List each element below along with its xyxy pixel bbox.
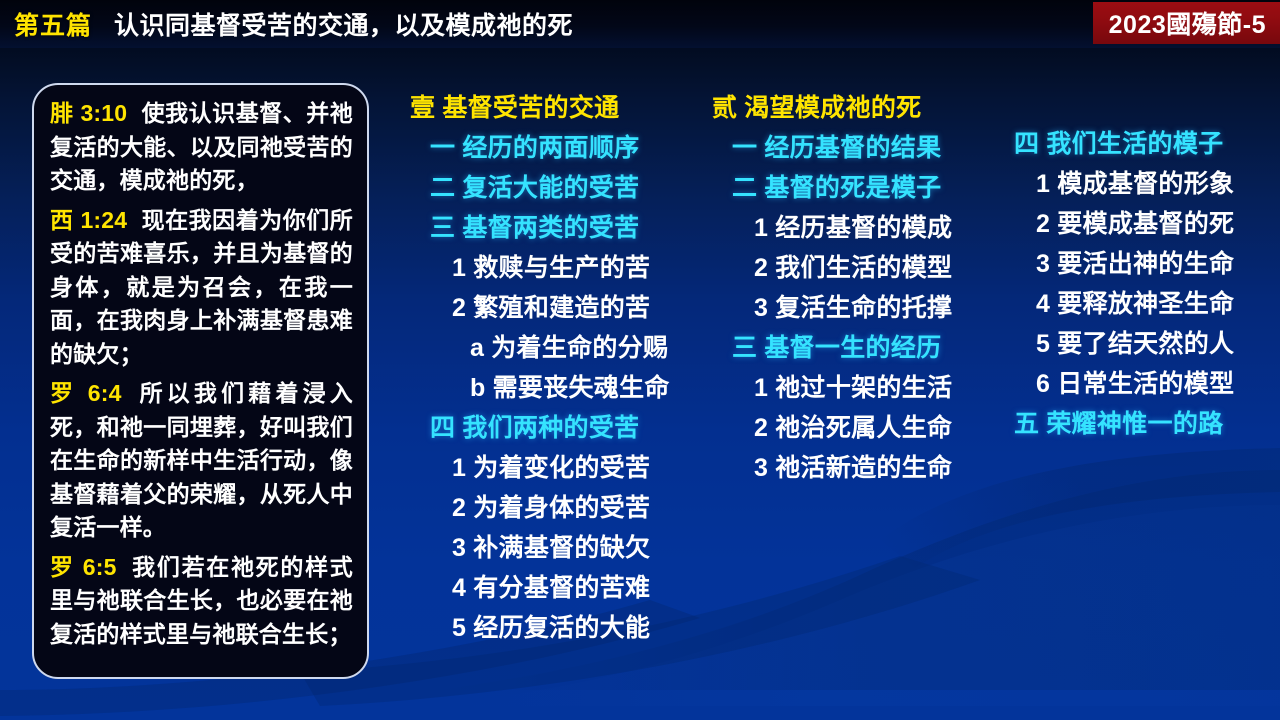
outline-label: 经历基督的结果 <box>764 134 941 162</box>
verse-list: 腓 3:10使我认识基督、并祂复活的大能、以及同祂受苦的交通，模成祂的死，西 1… <box>50 97 353 651</box>
outline-label: 为着变化的受苦 <box>473 454 650 482</box>
outline-label: 要释放神圣生命 <box>1057 290 1234 318</box>
outline-marker: 4 <box>452 574 466 602</box>
outline-marker: 3 <box>754 454 768 482</box>
outline-label: 祂治死属人生命 <box>775 414 952 442</box>
outline-label: 基督一生的经历 <box>764 334 941 362</box>
outline-item-level3: 3复活生命的托撑 <box>706 288 986 328</box>
outline-item-level2: 三基督两类的受苦 <box>404 208 704 248</box>
outline-item-level3: 3要活出神的生命 <box>988 244 1280 284</box>
outline-item-level2: 四我们两种的受苦 <box>404 408 704 448</box>
outline-label: 要了结天然的人 <box>1057 330 1234 358</box>
outline-marker: 6 <box>1036 370 1050 398</box>
outline-label: 我们两种的受苦 <box>462 414 639 442</box>
scripture-panel: 腓 3:10使我认识基督、并祂复活的大能、以及同祂受苦的交通，模成祂的死，西 1… <box>32 83 369 679</box>
outline-marker: 一 <box>732 134 757 162</box>
outline-item-level3: 3补满基督的缺欠 <box>404 528 704 568</box>
outline-label: 荣耀神惟一的路 <box>1046 410 1223 438</box>
outline-item-level2: 四我们生活的模子 <box>988 124 1280 164</box>
outline-marker: 1 <box>1036 170 1050 198</box>
outline-column-2: 贰渴望模成祂的死一经历基督的结果二基督的死是模子1经历基督的模成2我们生活的模型… <box>706 88 986 488</box>
outline-item-level2: 二基督的死是模子 <box>706 168 986 208</box>
outline-marker: 2 <box>452 494 466 522</box>
outline-item-level3: 1为着变化的受苦 <box>404 448 704 488</box>
outline-label: 日常生活的模型 <box>1057 370 1234 398</box>
outline-marker: 1 <box>754 374 768 402</box>
outline-label: 为着身体的受苦 <box>473 494 650 522</box>
outline-item-level2: 二复活大能的受苦 <box>404 168 704 208</box>
outline-marker: 2 <box>452 294 466 322</box>
outline-label: 补满基督的缺欠 <box>473 534 650 562</box>
lesson-number: 第五篇 <box>14 6 92 42</box>
outline-marker: 1 <box>452 454 466 482</box>
outline-item-level1: 贰渴望模成祂的死 <box>706 88 986 128</box>
outline-label: 基督两类的受苦 <box>462 214 639 242</box>
outline-marker: 一 <box>430 134 455 162</box>
outline-label: 要活出神的生命 <box>1057 250 1234 278</box>
page-title: 认识同基督受苦的交通，以及模成祂的死 <box>114 6 573 42</box>
verse-reference: 腓 3:10 <box>50 100 127 126</box>
outline-label: 经历的两面顺序 <box>462 134 639 162</box>
outline-label: 我们生活的模型 <box>775 254 952 282</box>
outline-marker: 3 <box>754 294 768 322</box>
outline-label: 模成基督的形象 <box>1057 170 1234 198</box>
outline-column-1: 壹基督受苦的交通一经历的两面顺序二复活大能的受苦三基督两类的受苦1救赎与生产的苦… <box>404 88 704 648</box>
outline-label: 为着生命的分赐 <box>491 334 668 362</box>
outline-label: 要模成基督的死 <box>1057 210 1234 238</box>
outline-label: 繁殖和建造的苦 <box>473 294 650 322</box>
outline-label: 祂活新造的生命 <box>775 454 952 482</box>
outline-item-level4: a为着生命的分赐 <box>404 328 704 368</box>
outline-marker: 四 <box>430 414 455 442</box>
verse-paragraph: 罗 6:4所以我们藉着浸入死，和祂一同埋葬，好叫我们在生命的新样中生活行动，像基… <box>50 377 353 545</box>
outline-marker: 2 <box>1036 210 1050 238</box>
outline-label: 祂过十架的生活 <box>775 374 952 402</box>
verse-reference: 西 1:24 <box>50 207 127 233</box>
outline-marker: 贰 <box>712 94 737 122</box>
outline-label: 救赎与生产的苦 <box>473 254 650 282</box>
outline-label: 有分基督的苦难 <box>473 574 650 602</box>
outline-marker: 二 <box>430 174 455 202</box>
outline-label: 经历复活的大能 <box>473 614 650 642</box>
outline-item-level3: 3祂活新造的生命 <box>706 448 986 488</box>
verse-paragraph: 西 1:24现在我因着为你们所受的苦难喜乐，并且为基督的身体，就是为召会，在我一… <box>50 204 353 372</box>
outline-marker: 5 <box>452 614 466 642</box>
outline-item-level3: 2要模成基督的死 <box>988 204 1280 244</box>
outline-item-level3: 2繁殖和建造的苦 <box>404 288 704 328</box>
outline-item-level3: 1经历基督的模成 <box>706 208 986 248</box>
outline-item-level2: 一经历基督的结果 <box>706 128 986 168</box>
outline-item-level3: 1救赎与生产的苦 <box>404 248 704 288</box>
outline-marker: 3 <box>1036 250 1050 278</box>
outline-label: 渴望模成祂的死 <box>744 94 921 122</box>
outline-marker: 1 <box>452 254 466 282</box>
outline-label: 复活生命的托撑 <box>775 294 952 322</box>
outline-marker: 五 <box>1014 410 1039 438</box>
outline-label: 基督的死是模子 <box>764 174 941 202</box>
verse-paragraph: 腓 3:10使我认识基督、并祂复活的大能、以及同祂受苦的交通，模成祂的死， <box>50 97 353 198</box>
outline-item-level3: 4要释放神圣生命 <box>988 284 1280 324</box>
slide-root: 第五篇 认识同基督受苦的交通，以及模成祂的死 2023國殤節-5 腓 3:10使… <box>0 0 1280 720</box>
outline-label: 经历基督的模成 <box>775 214 952 242</box>
outline-item-level1: 壹基督受苦的交通 <box>404 88 704 128</box>
outline-marker: 1 <box>754 214 768 242</box>
outline-marker: 三 <box>430 214 455 242</box>
outline-label: 复活大能的受苦 <box>462 174 639 202</box>
outline-marker: a <box>470 334 484 362</box>
outline-item-level4: b需要丧失魂生命 <box>404 368 704 408</box>
outline-marker: b <box>470 374 486 402</box>
outline-item-level3: 5经历复活的大能 <box>404 608 704 648</box>
outline-column-3: 四我们生活的模子1模成基督的形象2要模成基督的死3要活出神的生命4要释放神圣生命… <box>988 124 1280 444</box>
outline-marker: 2 <box>754 254 768 282</box>
outline-item-level3: 4有分基督的苦难 <box>404 568 704 608</box>
outline-marker: 3 <box>452 534 466 562</box>
outline-label: 基督受苦的交通 <box>442 94 619 122</box>
outline-marker: 壹 <box>410 94 435 122</box>
outline-item-level2: 三基督一生的经历 <box>706 328 986 368</box>
outline-item-level3: 1祂过十架的生活 <box>706 368 986 408</box>
outline-item-level3: 2祂治死属人生命 <box>706 408 986 448</box>
outline-marker: 四 <box>1014 130 1039 158</box>
outline-marker: 二 <box>732 174 757 202</box>
outline-marker: 4 <box>1036 290 1050 318</box>
outline-item-level2: 一经历的两面顺序 <box>404 128 704 168</box>
verse-reference: 罗 6:4 <box>50 380 122 406</box>
outline-columns: 壹基督受苦的交通一经历的两面顺序二复活大能的受苦三基督两类的受苦1救赎与生产的苦… <box>404 88 1280 688</box>
outline-marker: 5 <box>1036 330 1050 358</box>
outline-marker: 2 <box>754 414 768 442</box>
outline-label: 需要丧失魂生命 <box>493 374 670 402</box>
status-badge: 2023國殤節-5 <box>1093 2 1280 44</box>
outline-label: 我们生活的模子 <box>1046 130 1223 158</box>
header-bar: 第五篇 认识同基督受苦的交通，以及模成祂的死 2023國殤節-5 <box>0 0 1280 48</box>
outline-item-level3: 6日常生活的模型 <box>988 364 1280 404</box>
outline-item-level3: 2为着身体的受苦 <box>404 488 704 528</box>
outline-item-level3: 1模成基督的形象 <box>988 164 1280 204</box>
verse-reference: 罗 6:5 <box>50 554 117 580</box>
outline-marker: 三 <box>732 334 757 362</box>
outline-item-level3: 2我们生活的模型 <box>706 248 986 288</box>
outline-item-level3: 5要了结天然的人 <box>988 324 1280 364</box>
outline-item-level2: 五荣耀神惟一的路 <box>988 404 1280 444</box>
verse-paragraph: 罗 6:5我们若在祂死的样式里与祂联合生长，也必要在祂复活的样式里与祂联合生长； <box>50 551 353 652</box>
